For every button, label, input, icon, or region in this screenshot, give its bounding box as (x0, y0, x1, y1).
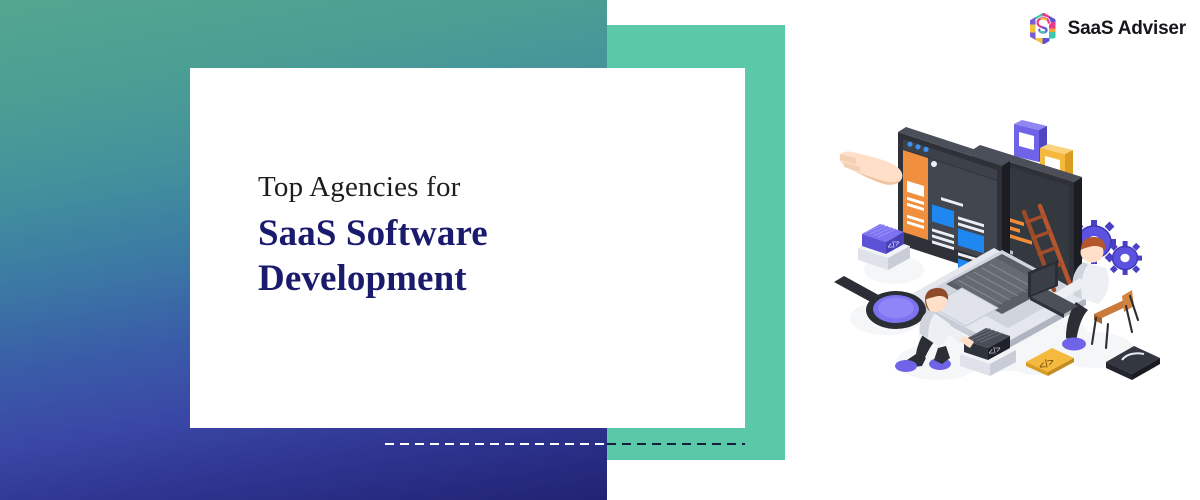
headline-line-3: Development (258, 256, 728, 301)
hand-pointing-at-screen (840, 151, 903, 184)
magnifying-glass (834, 276, 926, 329)
dashed-divider-right-segment (607, 443, 745, 445)
dashed-divider-left-segment (385, 443, 607, 445)
isometric-saas-software-development-scene: Isometric illustration: laptop with two … (826, 110, 1176, 400)
brand-logo[interactable]: SaaS Adviser (1028, 12, 1186, 45)
headline-line-1: Top Agencies for (258, 170, 728, 205)
dashed-divider (385, 443, 745, 445)
headline-line-2: SaaS Software (258, 211, 728, 256)
saas-adviser-hexagon-s-logo-icon (1028, 12, 1059, 45)
brand-wordmark: SaaS Adviser (1068, 18, 1186, 40)
page-title: Top Agencies for SaaS Software Developme… (258, 170, 728, 301)
banner-root: Top Agencies for SaaS Software Developme… (0, 0, 1200, 500)
